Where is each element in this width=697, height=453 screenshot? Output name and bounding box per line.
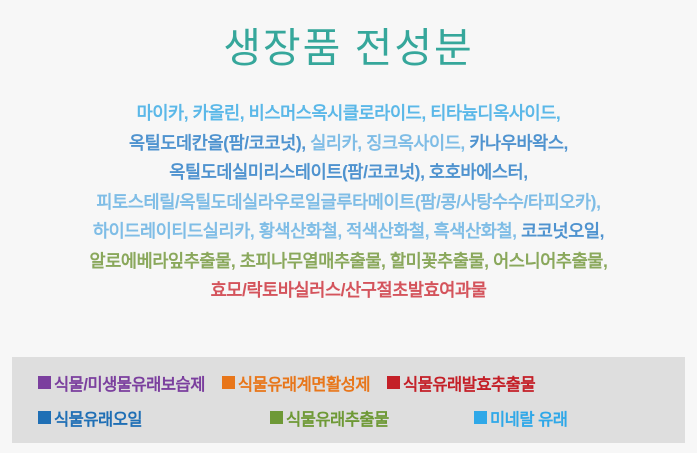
legend-swatch-icon [222, 376, 235, 389]
legend-row: 식물유래오일식물유래추출물미네랄 유래 [12, 400, 685, 435]
ingredient-segment-extract: 알로에베라잎추출물, 초피나무열매추출물, 할미꽃추출물, 어스니어추출물, [90, 251, 608, 271]
ingredient-list-page: 생장품 전성분 마이카, 카올린, 비스머스옥시클로라이드, 티타늄디옥사이드,… [0, 0, 697, 453]
legend-swatch-icon [38, 411, 51, 424]
ingredient-segment-mineral: 하이드레이티드실리카, 황색산화철, 적색산화철, 흑색산화철, [93, 221, 521, 241]
ingredient-segment-mineral: 실리카, 징크옥사이드, [310, 133, 469, 153]
legend-row: 식물/미생물유래보습제식물유래계면활성제식물유래발효추출물 [12, 365, 685, 400]
ingredient-segment-oil: 옥틸도데실미리스테이트(팜/코코넛), 호호바에스터, [169, 162, 527, 182]
ingredient-segment-ferment: 효모/락토바실러스/산구절초발효여과물 [211, 280, 487, 300]
legend-label: 식물유래추출물 [286, 406, 389, 430]
legend-label: 식물/미생물유래보습제 [54, 371, 205, 395]
legend-panel: 식물/미생물유래보습제식물유래계면활성제식물유래발효추출물 식물유래오일식물유래… [12, 357, 685, 443]
legend-label: 식물유래계면활성제 [238, 371, 370, 395]
ingredient-line: 옥틸도데칸올(팜/코코넛), 실리카, 징크옥사이드, 카나우바왁스, [0, 129, 697, 159]
ingredient-line: 옥틸도데실미리스테이트(팜/코코넛), 호호바에스터, [0, 158, 697, 188]
title-area: 생장품 전성분 [0, 0, 697, 73]
legend-item: 미네랄 유래 [474, 406, 567, 430]
legend-item: 식물/미생물유래보습제 [38, 371, 205, 395]
legend-item: 식물유래발효추출물 [387, 371, 535, 395]
ingredient-segment-oil: 카나우바왁스, [469, 133, 568, 153]
ingredient-line: 하이드레이티드실리카, 황색산화철, 적색산화철, 흑색산화철, 코코넛오일, [0, 217, 697, 247]
ingredient-segment-mineral: 마이카, 카올린, 비스머스옥시클로라이드, 티타늄디옥사이드, [137, 103, 561, 123]
ingredient-list: 마이카, 카올린, 비스머스옥시클로라이드, 티타늄디옥사이드,옥틸도데칸올(팜… [0, 99, 697, 306]
ingredient-line: 알로에베라잎추출물, 초피나무열매추출물, 할미꽃추출물, 어스니어추출물, [0, 247, 697, 277]
legend-label: 식물유래오일 [54, 406, 142, 430]
legend-item: 식물유래오일 [38, 406, 270, 430]
legend-item: 식물유래계면활성제 [222, 371, 370, 395]
legend-item: 식물유래추출물 [270, 406, 474, 430]
ingredient-line: 피토스테릴/옥틸도데실라우로일글루타메이트(팜/콩/사탕수수/타피오카), [0, 188, 697, 218]
ingredient-line: 효모/락토바실러스/산구절초발효여과물 [0, 276, 697, 306]
ingredient-segment-surfactant: 피토스테릴/옥틸도데실라우로일글루타메이트(팜/콩/사탕수수/타피오카), [96, 192, 600, 212]
legend-swatch-icon [270, 411, 283, 424]
page-title: 생장품 전성분 [0, 24, 697, 73]
legend-swatch-icon [38, 376, 51, 389]
legend-label: 미네랄 유래 [490, 406, 567, 430]
legend-swatch-icon [387, 376, 400, 389]
ingredient-segment-oil: 옥틸도데칸올(팜/코코넛), [129, 133, 310, 153]
legend-swatch-icon [474, 411, 487, 424]
ingredient-line: 마이카, 카올린, 비스머스옥시클로라이드, 티타늄디옥사이드, [0, 99, 697, 129]
legend-label: 식물유래발효추출물 [403, 371, 535, 395]
ingredient-segment-oil: 코코넛오일, [521, 221, 604, 241]
